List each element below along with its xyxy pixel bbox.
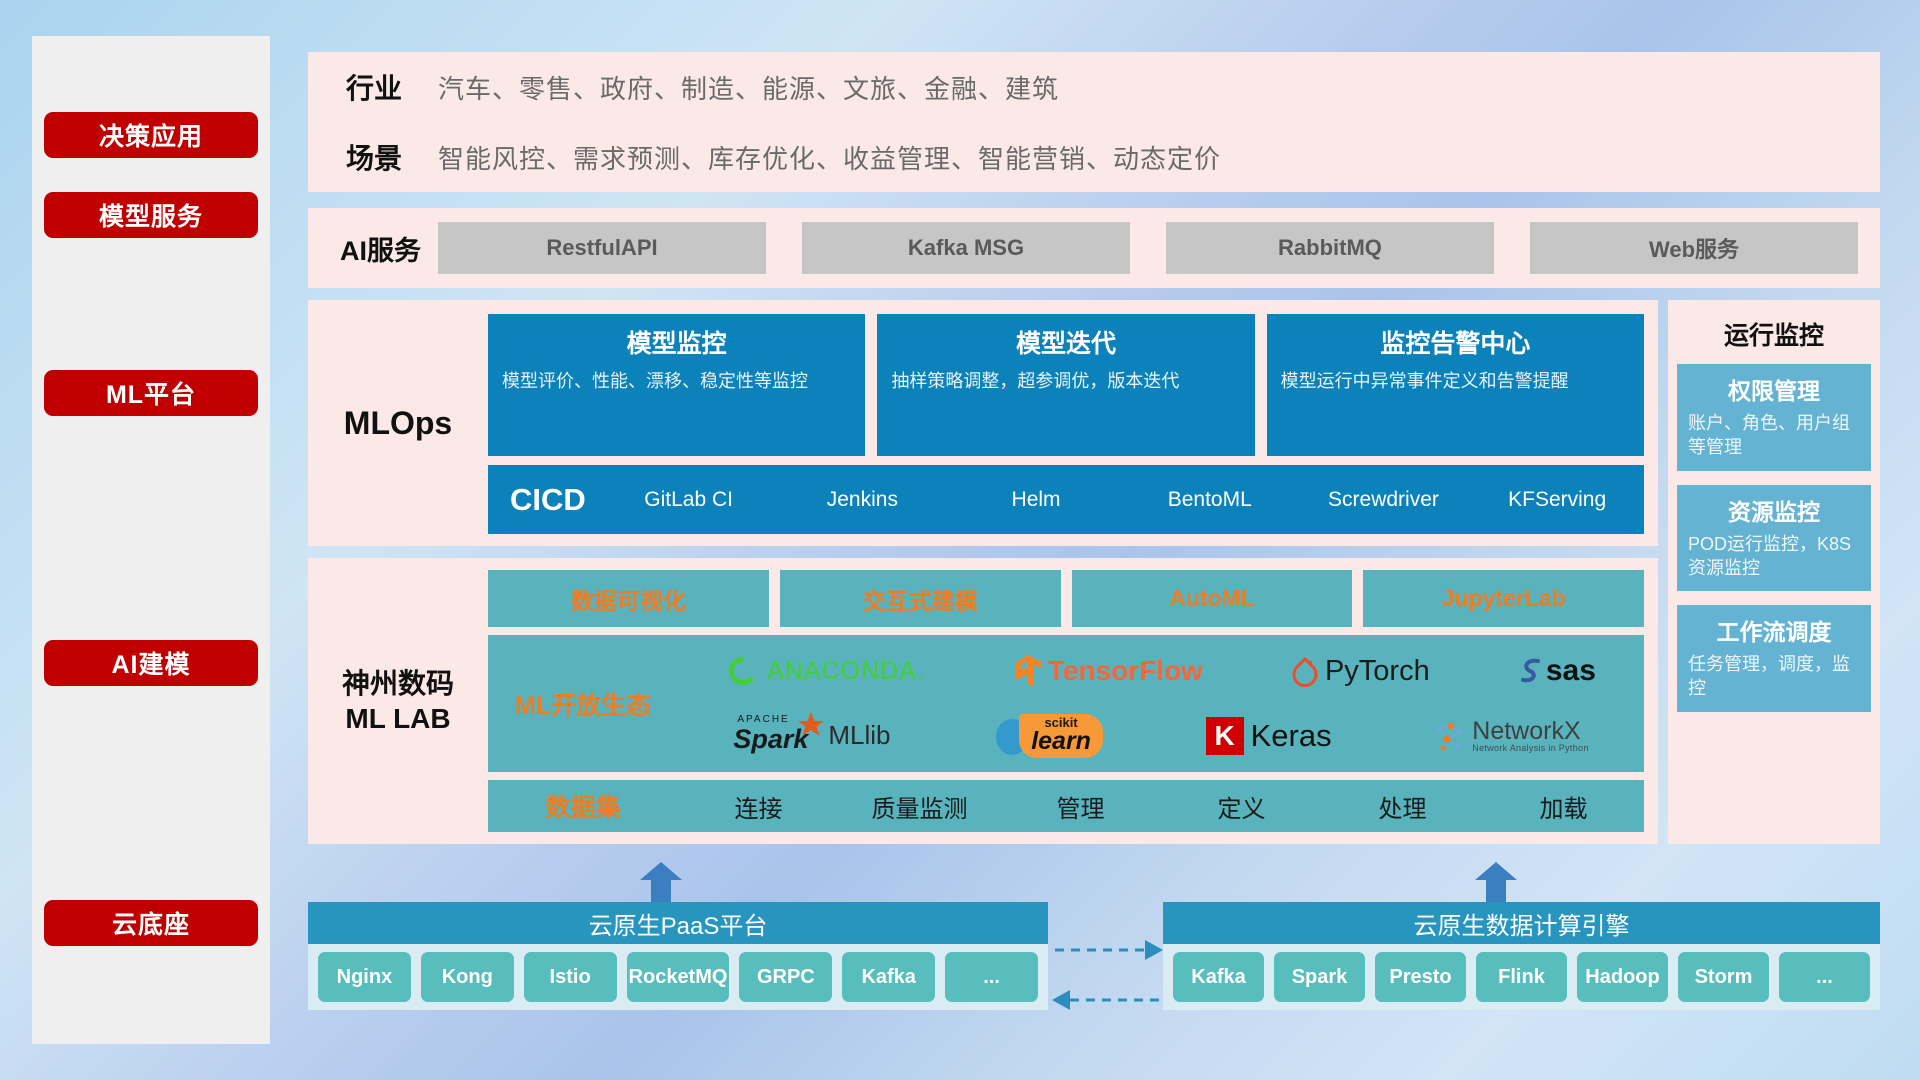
cicd-item-gitlab-ci[interactable]: GitLab CI: [602, 488, 776, 511]
mlops-card-group: 模型监控 模型评价、性能、漂移、稳定性等监控 模型迭代 抽样策略调整，超参调优，…: [488, 314, 1644, 456]
rail-item-label: AI建模: [111, 645, 190, 681]
up-arrow-icon-left: [638, 862, 684, 902]
mlops-title: MLOps: [308, 300, 488, 546]
cloud-chip-kafka[interactable]: Kafka: [842, 952, 935, 1002]
engine-chip-presto[interactable]: Presto: [1375, 952, 1466, 1002]
engine-chip-kafka[interactable]: Kafka: [1173, 952, 1264, 1002]
service-box-restfulapi[interactable]: RestfulAPI: [438, 222, 766, 274]
spark-star-icon: [798, 712, 824, 738]
rail-item-label: 模型服务: [99, 197, 203, 233]
rail-item-ml-platform[interactable]: ML平台: [44, 370, 258, 416]
rail-item-label: 云底座: [112, 905, 190, 941]
monitor-card-permission[interactable]: 权限管理 账户、角色、用户组等管理: [1677, 364, 1871, 471]
anaconda-wordmark: ANACONDA.: [767, 657, 925, 686]
scenario-values: 智能风控、需求预测、库存优化、收益管理、智能营销、动态定价: [438, 139, 1221, 176]
tool-jupyterlab[interactable]: JupyterLab: [1363, 570, 1644, 627]
engine-chip-storm[interactable]: Storm: [1678, 952, 1769, 1002]
learn-text: learn: [1031, 729, 1091, 754]
monitor-card-resource[interactable]: 资源监控 POD运行监控，K8S资源监控: [1677, 485, 1871, 592]
industry-label: 行业: [308, 67, 438, 107]
cloud-chip-nginx[interactable]: Nginx: [318, 952, 411, 1002]
networkx-logo: NetworkX Network Analysis in Python: [1434, 719, 1588, 753]
arrow-head-right-icon: [1145, 940, 1163, 960]
cicd-item-kfserving[interactable]: KFServing: [1470, 488, 1644, 511]
networkx-wordmark: NetworkX: [1472, 719, 1588, 744]
engine-chip-spark[interactable]: Spark: [1274, 952, 1365, 1002]
spark-mllib-logo: APACHE Spark MLlib: [733, 716, 890, 755]
mlops-card-model-iteration[interactable]: 模型迭代 抽样策略调整，超参调优，版本迭代: [877, 314, 1254, 456]
pytorch-icon: [1291, 655, 1319, 687]
ml-lab-title: 神州数码 ML LAB: [308, 558, 488, 844]
tool-automl[interactable]: AutoML: [1072, 570, 1353, 627]
monitor-card-workflow[interactable]: 工作流调度 任务管理，调度，监控: [1677, 605, 1871, 712]
tool-interactive-modeling[interactable]: 交互式建模: [780, 570, 1061, 627]
cloud-chip-grpc[interactable]: GRPC: [739, 952, 832, 1002]
dataset-item-quality[interactable]: 质量监测: [839, 789, 1000, 824]
spark-wordmark: Spark: [733, 724, 808, 755]
decision-application-band: 行业 汽车、零售、政府、制造、能源、文旅、金融、建筑 场景 智能风控、需求预测、…: [308, 52, 1880, 192]
keras-icon: K: [1206, 717, 1244, 755]
dataset-label: 数据集: [488, 788, 678, 824]
ml-open-ecosystem: ML开放生态 ANACONDA.: [488, 635, 1644, 772]
cicd-item-helm[interactable]: Helm: [949, 488, 1123, 511]
ml-lab-content: 数据可视化 交互式建模 AutoML JupyterLab ML开放生态 ANA…: [488, 558, 1658, 844]
cloud-chip-more[interactable]: ...: [945, 952, 1038, 1002]
scikit-orange-blob-icon: scikit learn: [1019, 714, 1103, 758]
cicd-item-jenkins[interactable]: Jenkins: [775, 488, 949, 511]
networkx-subtitle: Network Analysis in Python: [1472, 744, 1588, 753]
ai-service-title: AI服务: [308, 229, 438, 268]
dataset-bar: 数据集 连接 质量监测 管理 定义 处理 加载: [488, 780, 1644, 832]
cicd-bar: CICD GitLab CI Jenkins Helm BentoML Scre…: [488, 465, 1644, 534]
arrow-head-left-icon: [1052, 990, 1070, 1010]
dataset-item-process[interactable]: 处理: [1322, 789, 1483, 824]
card-desc: 模型评价、性能、漂移、稳定性等监控: [502, 368, 851, 394]
cloud-paas-chip-bar: Nginx Kong Istio RocketMQ GRPC Kafka ...: [308, 944, 1048, 1010]
cloud-chip-rocketmq[interactable]: RocketMQ: [627, 952, 730, 1002]
ecosystem-logo-grid: ANACONDA. TensorFlow: [678, 635, 1644, 772]
tensorflow-logo: TensorFlow: [1013, 654, 1203, 688]
dataset-item-manage[interactable]: 管理: [1000, 789, 1161, 824]
tensorflow-wordmark: TensorFlow: [1048, 655, 1203, 687]
sas-wordmark: sas: [1546, 654, 1596, 688]
cicd-item-screwdriver[interactable]: Screwdriver: [1297, 488, 1471, 511]
card-desc: 模型运行中异常事件定义和告警提醒: [1281, 368, 1630, 394]
card-desc: POD运行监控，K8S资源监控: [1688, 532, 1860, 581]
keras-logo: K Keras: [1206, 717, 1332, 755]
cicd-label: CICD: [488, 482, 602, 518]
cloud-engine-title: 云原生数据计算引擎: [1163, 902, 1880, 944]
rail-item-cloud-base[interactable]: 云底座: [44, 900, 258, 946]
card-desc: 账户、角色、用户组等管理: [1688, 411, 1860, 460]
industry-row: 行业 汽车、零售、政府、制造、能源、文旅、金融、建筑: [308, 52, 1880, 122]
rail-item-label: ML平台: [106, 375, 196, 411]
tool-data-visualization[interactable]: 数据可视化: [488, 570, 769, 627]
service-box-kafka-msg[interactable]: Kafka MSG: [802, 222, 1130, 274]
scenario-label: 场景: [308, 137, 438, 177]
cloud-engine-chip-bar: Kafka Spark Presto Flink Hadoop Storm ..…: [1163, 944, 1880, 1010]
scikit-learn-logo: scikit learn: [993, 714, 1103, 758]
engine-chip-hadoop[interactable]: Hadoop: [1577, 952, 1668, 1002]
cicd-item-bentoml[interactable]: BentoML: [1123, 488, 1297, 511]
ai-service-band: AI服务 RestfulAPI Kafka MSG RabbitMQ Web服务: [308, 208, 1880, 288]
mlops-card-alert-center[interactable]: 监控告警中心 模型运行中异常事件定义和告警提醒: [1267, 314, 1644, 456]
layer-rail: 决策应用 模型服务 ML平台 AI建模 云底座: [32, 36, 270, 1044]
ml-lab-tool-group: 数据可视化 交互式建模 AutoML JupyterLab: [488, 570, 1644, 627]
card-title: 工作流调度: [1688, 613, 1860, 647]
ml-lab-band: 神州数码 ML LAB 数据可视化 交互式建模 AutoML JupyterLa…: [308, 558, 1658, 844]
mlops-card-model-monitoring[interactable]: 模型监控 模型评价、性能、漂移、稳定性等监控: [488, 314, 865, 456]
industry-values: 汽车、零售、政府、制造、能源、文旅、金融、建筑: [438, 69, 1059, 106]
anaconda-icon: [726, 654, 760, 688]
ecosystem-label: ML开放生态: [488, 686, 678, 722]
tensorflow-icon: [1013, 654, 1043, 688]
dataset-item-load[interactable]: 加载: [1483, 789, 1644, 824]
bidirectional-dashed-connector: [1050, 930, 1165, 1020]
engine-chip-flink[interactable]: Flink: [1476, 952, 1567, 1002]
sas-icon: [1518, 656, 1544, 686]
cloud-native-paas-group: 云原生PaaS平台 Nginx Kong Istio RocketMQ GRPC…: [308, 902, 1048, 1010]
ml-lab-title-line2: ML LAB: [345, 701, 450, 736]
pytorch-logo: PyTorch: [1291, 655, 1430, 688]
runtime-monitoring-panel: 运行监控 权限管理 账户、角色、用户组等管理 资源监控 POD运行监控，K8S资…: [1668, 300, 1880, 844]
mlops-content: 模型监控 模型评价、性能、漂移、稳定性等监控 模型迭代 抽样策略调整，超参调优，…: [488, 300, 1658, 546]
rail-item-ai-modeling[interactable]: AI建模: [44, 640, 258, 686]
networkx-icon: [1434, 719, 1468, 753]
card-title: 监控告警中心: [1281, 324, 1630, 360]
mlops-band: MLOps 模型监控 模型评价、性能、漂移、稳定性等监控 模型迭代 抽样策略调整…: [308, 300, 1658, 546]
dataset-item-define[interactable]: 定义: [1161, 789, 1322, 824]
dataset-item-connect[interactable]: 连接: [678, 789, 839, 824]
mllib-wordmark: MLlib: [828, 720, 890, 751]
sas-logo: sas: [1518, 654, 1596, 688]
card-title: 模型监控: [502, 324, 851, 360]
card-desc: 抽样策略调整，超参调优，版本迭代: [891, 368, 1240, 394]
service-box-web[interactable]: Web服务: [1530, 222, 1858, 274]
keras-wordmark: Keras: [1251, 718, 1332, 754]
ecosystem-logo-row-1: ANACONDA. TensorFlow: [682, 641, 1640, 702]
rail-item-decision-app[interactable]: 决策应用: [44, 112, 258, 158]
cloud-chip-istio[interactable]: Istio: [524, 952, 617, 1002]
cloud-paas-title: 云原生PaaS平台: [308, 902, 1048, 944]
ml-lab-title-line1: 神州数码: [342, 666, 454, 701]
card-title: 资源监控: [1688, 493, 1860, 527]
scenario-row: 场景 智能风控、需求预测、库存优化、收益管理、智能营销、动态定价: [308, 122, 1880, 192]
ecosystem-logo-row-2: APACHE Spark MLlib: [682, 706, 1640, 767]
cloud-native-data-engine-group: 云原生数据计算引擎 Kafka Spark Presto Flink Hadoo…: [1163, 902, 1880, 1010]
up-arrow-icon-right: [1473, 862, 1519, 902]
rail-item-model-service[interactable]: 模型服务: [44, 192, 258, 238]
runtime-monitoring-title: 运行监控: [1724, 316, 1824, 352]
card-desc: 任务管理，调度，监控: [1688, 652, 1860, 701]
engine-chip-more[interactable]: ...: [1779, 952, 1870, 1002]
card-title: 权限管理: [1688, 372, 1860, 406]
rail-item-label: 决策应用: [99, 117, 203, 153]
ai-service-box-group: RestfulAPI Kafka MSG RabbitMQ Web服务: [438, 222, 1880, 274]
apache-text: APACHE: [737, 714, 789, 725]
pytorch-wordmark: PyTorch: [1325, 655, 1430, 688]
card-title: 模型迭代: [891, 324, 1240, 360]
service-box-rabbitmq[interactable]: RabbitMQ: [1166, 222, 1494, 274]
cloud-chip-kong[interactable]: Kong: [421, 952, 514, 1002]
anaconda-logo: ANACONDA.: [726, 654, 925, 688]
